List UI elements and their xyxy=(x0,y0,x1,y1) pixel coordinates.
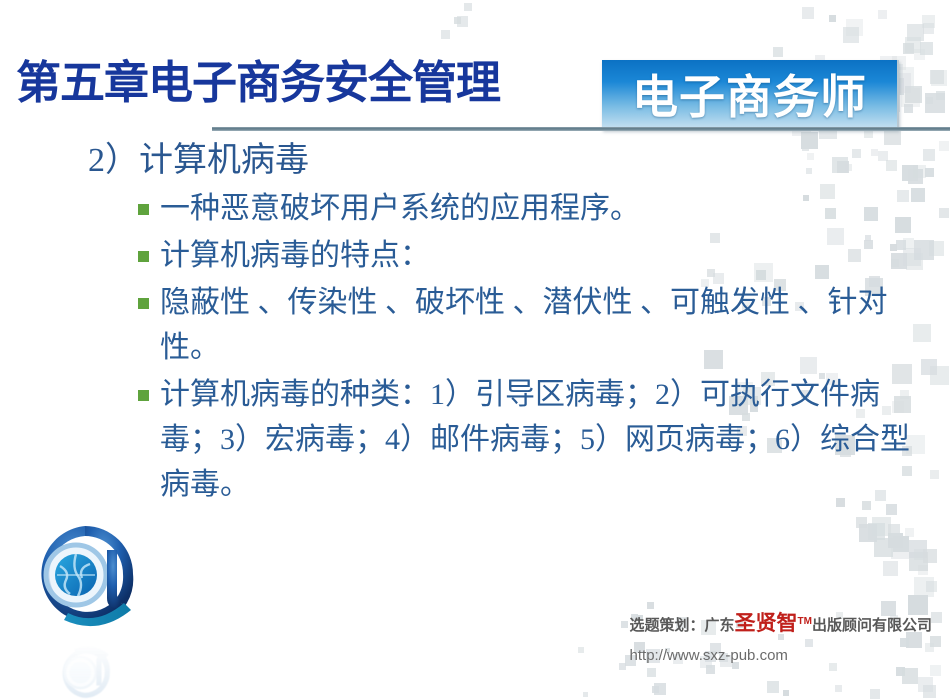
list-item: 计算机病毒的种类：1）引导区病毒；2）可执行文件病毒；3）宏病毒；4）邮件病毒；… xyxy=(0,372,950,507)
mosaic-square xyxy=(647,602,654,609)
mosaic-square xyxy=(457,16,468,27)
brand-plate: 电子商务师 xyxy=(602,60,899,130)
mosaic-square xyxy=(647,668,656,677)
footer-brand: 圣贤智 xyxy=(735,612,798,635)
mosaic-square xyxy=(802,7,814,19)
mosaic-square xyxy=(621,621,628,628)
mosaic-square xyxy=(878,10,887,19)
mosaic-square xyxy=(843,27,859,43)
mosaic-square xyxy=(907,24,924,41)
list-item-label: 一种恶意破坏用户系统的应用程序。 xyxy=(160,192,640,225)
bullet-square-icon xyxy=(138,251,149,262)
mosaic-square xyxy=(926,581,937,592)
mosaic-square xyxy=(829,15,836,22)
mosaic-square xyxy=(654,683,666,695)
mosaic-square xyxy=(918,565,928,575)
trademark-icon: TM xyxy=(798,616,812,627)
mosaic-square xyxy=(846,19,863,36)
mosaic-square xyxy=(888,524,900,536)
mosaic-square xyxy=(923,23,934,34)
mosaic-square xyxy=(896,667,905,676)
list-item-label: 计算机病毒的种类：1）引导区病毒；2）可执行文件病毒；3）宏病毒；4）邮件病毒；… xyxy=(160,378,910,501)
slide-header: 第五章电子商务安全管理 电子商务师 xyxy=(0,52,950,124)
mosaic-square xyxy=(874,538,893,557)
mosaic-square xyxy=(835,685,842,692)
slide-canvas: 第五章电子商务安全管理 电子商务师 2）计算机病毒 一种恶意破坏用户系统的应用程… xyxy=(0,0,950,700)
slide-body: 2）计算机病毒 一种恶意破坏用户系统的应用程序。 计算机病毒的特点： 隐蔽性 、… xyxy=(0,138,950,509)
footer-company-line: 选题策划：广东圣贤智TM出版顾问有限公司 xyxy=(630,611,932,637)
mosaic-square xyxy=(856,517,867,528)
mosaic-square xyxy=(829,663,837,671)
brand-plate-label: 电子商务师 xyxy=(632,61,867,127)
bullet-square-icon xyxy=(138,390,149,401)
mosaic-square xyxy=(905,528,914,537)
mosaic-square xyxy=(578,647,584,653)
mosaic-square xyxy=(930,665,941,676)
mosaic-square xyxy=(922,15,935,28)
mosaic-square xyxy=(859,524,877,542)
at-sign-globe-logo xyxy=(24,518,146,638)
mosaic-square xyxy=(652,686,659,693)
mosaic-square xyxy=(909,540,927,558)
list-item: 一种恶意破坏用户系统的应用程序。 xyxy=(0,186,950,231)
mosaic-square xyxy=(923,685,936,698)
mosaic-square xyxy=(888,533,903,548)
mosaic-square xyxy=(902,668,918,684)
mosaic-square xyxy=(706,665,715,674)
footer-url[interactable]: http://www.sxz-pub.com xyxy=(630,647,932,664)
mosaic-square xyxy=(918,677,933,692)
list-item-label: 隐蔽性 、传染性 、破坏性 、潜伏性 、可触发性 、针对性。 xyxy=(160,286,888,364)
list-item: 计算机病毒的特点： xyxy=(0,233,950,278)
mosaic-square xyxy=(905,37,921,53)
at-sign-globe-logo-reflection xyxy=(24,640,146,700)
mosaic-square xyxy=(464,3,472,11)
mosaic-square xyxy=(454,17,461,24)
mosaic-square xyxy=(914,549,925,560)
mosaic-square xyxy=(767,681,779,693)
mosaic-square xyxy=(893,536,909,552)
bullet-square-icon xyxy=(138,298,149,309)
mosaic-square xyxy=(619,663,626,670)
mosaic-square xyxy=(914,577,934,597)
footer-suffix: 出版顾问有限公司 xyxy=(812,617,932,634)
mosaic-square xyxy=(872,517,891,536)
section-heading: 2）计算机病毒 xyxy=(88,138,950,184)
footer-prefix: 选题策划：广东 xyxy=(630,617,735,634)
mosaic-square xyxy=(891,541,909,559)
bullet-square-icon xyxy=(138,204,149,215)
footer: 选题策划：广东圣贤智TM出版顾问有限公司 http://www.sxz-pub.… xyxy=(630,611,932,664)
mosaic-square xyxy=(931,612,942,623)
mosaic-square xyxy=(783,690,789,696)
mosaic-square xyxy=(883,561,898,576)
list-item: 隐蔽性 、传染性 、破坏性 、潜伏性 、可触发性 、针对性。 xyxy=(0,280,950,370)
mosaic-square xyxy=(909,552,928,571)
mosaic-square xyxy=(441,30,450,39)
mosaic-square xyxy=(583,692,588,697)
mosaic-square xyxy=(870,689,880,699)
mosaic-square xyxy=(923,549,937,563)
title-divider xyxy=(212,127,950,131)
page-title: 第五章电子商务安全管理 xyxy=(16,52,500,114)
mosaic-square xyxy=(868,523,885,540)
list-item-label: 计算机病毒的特点： xyxy=(160,239,430,272)
